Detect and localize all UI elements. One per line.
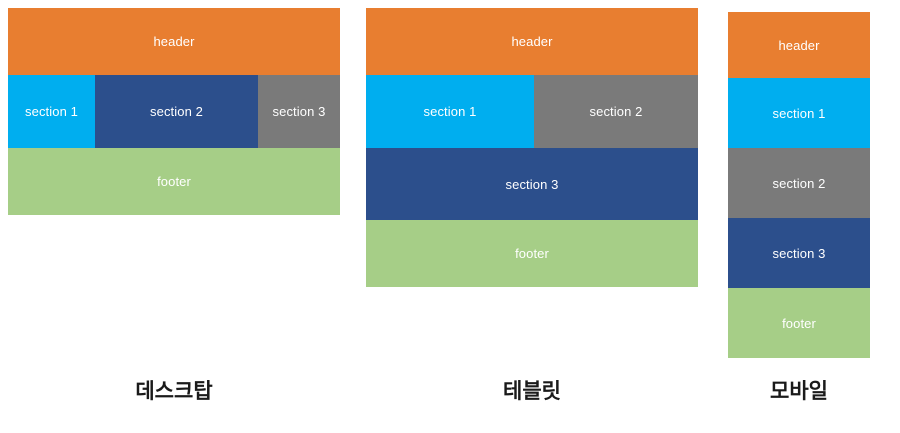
tablet-section-3-block: section 3 — [366, 148, 698, 220]
desktop-section-3-block: section 3 — [258, 75, 340, 148]
desktop-section-2-block: section 2 — [95, 75, 258, 148]
layout-tablet: header section 1 section 2 section 3 foo… — [366, 8, 698, 287]
mobile-section-2-block: section 2 — [728, 148, 870, 218]
desktop-section-1-block: section 1 — [8, 75, 95, 148]
tablet-section-1-block: section 1 — [366, 75, 534, 148]
tablet-section-2-block: section 2 — [534, 75, 698, 148]
layout-desktop: header section 1 section 2 section 3 foo… — [8, 8, 340, 215]
mobile-section-3-block: section 3 — [728, 218, 870, 288]
diagram-canvas: header section 1 section 2 section 3 foo… — [0, 0, 900, 433]
layout-mobile: header section 1 section 2 section 3 foo… — [728, 12, 870, 358]
caption-mobile: 모바일 — [728, 381, 870, 402]
tablet-header-block: header — [366, 8, 698, 75]
caption-tablet: 테블릿 — [366, 381, 698, 402]
mobile-section-1-block: section 1 — [728, 78, 870, 148]
mobile-header-block: header — [728, 12, 870, 78]
caption-desktop: 데스크탑 — [8, 381, 340, 402]
tablet-footer-block: footer — [366, 220, 698, 287]
desktop-footer-block: footer — [8, 148, 340, 215]
mobile-footer-block: footer — [728, 288, 870, 358]
desktop-header-block: header — [8, 8, 340, 75]
